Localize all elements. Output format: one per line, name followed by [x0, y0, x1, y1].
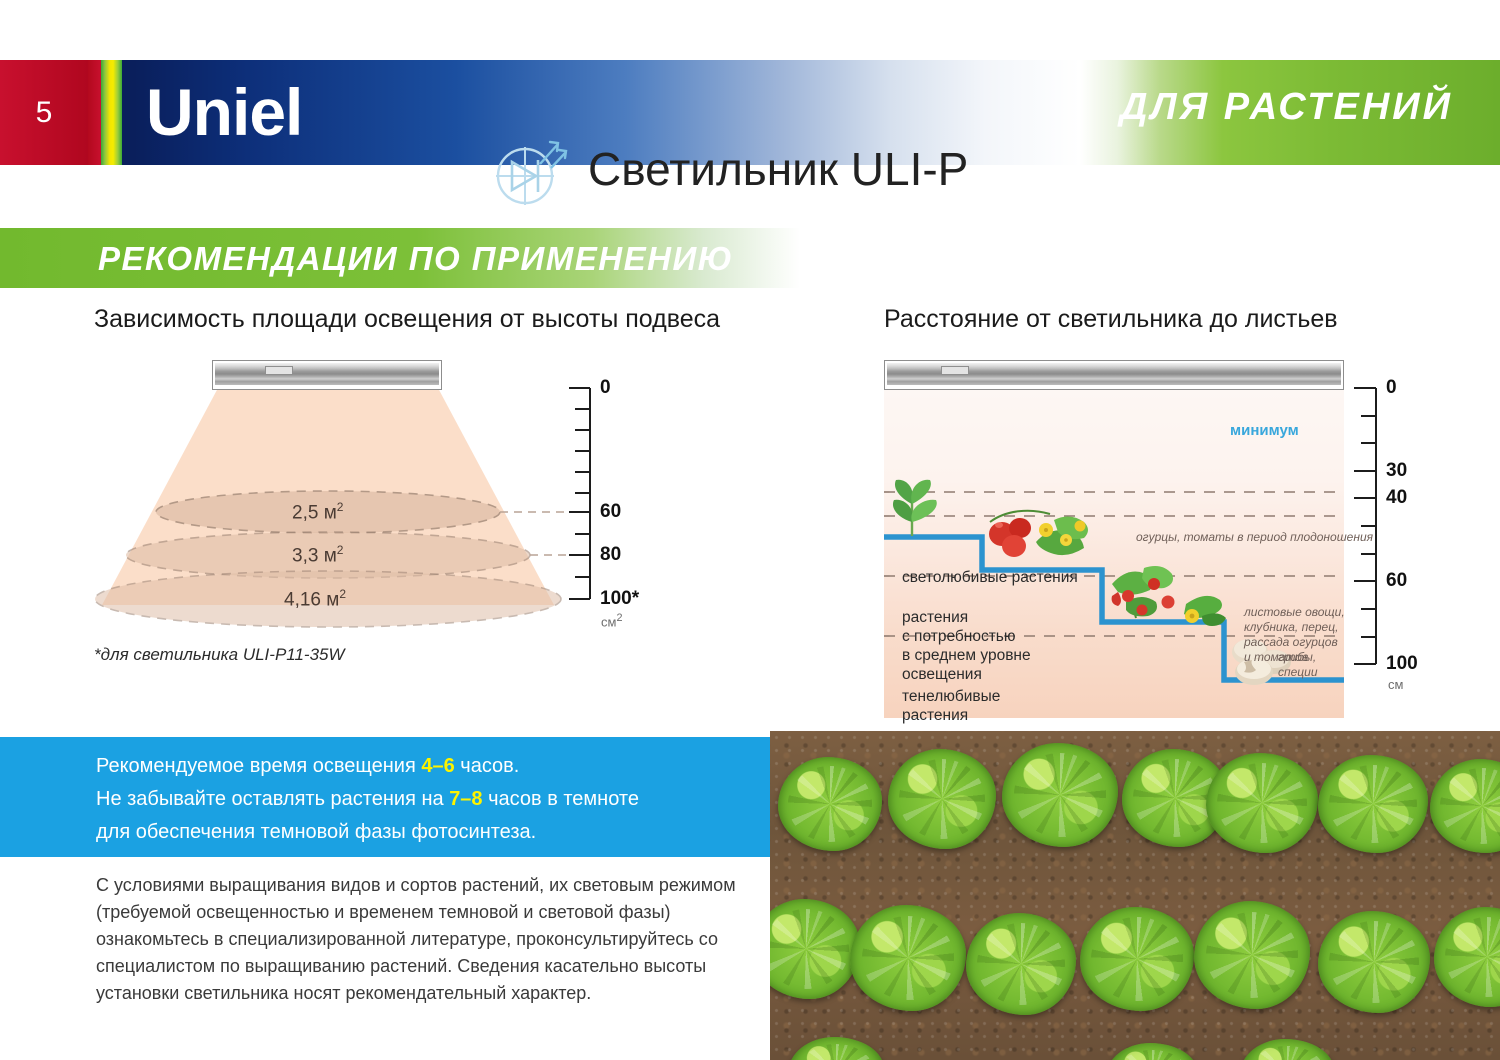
- tomato-flower-cluster-icon: [989, 511, 1088, 557]
- lettuce-plant: [1002, 743, 1118, 847]
- left-ruler-unit-text: см: [601, 614, 616, 629]
- minimum-label: минимум: [1230, 422, 1299, 439]
- page-title: Светильник ULI-P: [588, 142, 968, 196]
- area-label-80: 3,3 м2: [292, 543, 343, 567]
- lettuce-field-photo: [770, 731, 1500, 1060]
- page-header: 5 Uniel Светильник ULI-P ДЛЯ РАСТЕНИЙ: [0, 60, 1500, 165]
- strawberry-cucumber-cluster-icon: [1112, 566, 1226, 626]
- left-panel-heading: Зависимость площади освещения от высоты …: [94, 305, 720, 334]
- page-number-block: 5: [0, 60, 88, 165]
- lettuce-plant: [850, 905, 966, 1011]
- illumination-area-diagram: 2,5 м2 3,3 м2 4,16 м2 0 60 80 100* см2: [94, 360, 664, 660]
- lettuce-plant: [888, 749, 996, 849]
- lamp-fixture: [212, 360, 442, 390]
- left-ruler-label-100: 100*: [600, 588, 639, 610]
- section-title-bar: РЕКОМЕНДАЦИИ ПО ПРИМЕНЕНИЮ: [0, 228, 800, 288]
- callout-hours-7-8: 7–8: [449, 788, 482, 810]
- for-plants-badge-label: ДЛЯ РАСТЕНИЙ: [1120, 86, 1453, 129]
- lettuce-plant: [1318, 911, 1430, 1013]
- left-ruler-unit: см2: [601, 612, 622, 629]
- light-cone-svg: [94, 360, 664, 660]
- lettuce-plant: [778, 757, 882, 851]
- note-cucumbers-tomatoes: огурцы, томаты в период плодоношения: [1136, 530, 1373, 545]
- right-ruler-label-100: 100: [1386, 653, 1418, 675]
- callout-line-3: для обеспечения темновой фазы фотосинтез…: [96, 821, 536, 844]
- callout-line-1-a: Рекомендуемое время освещения: [96, 755, 421, 777]
- leaf-distance-diagram: минимум светолюбивые растения растения с…: [884, 360, 1440, 720]
- category-label-shade-loving: тенелюбивые растения: [902, 687, 1000, 725]
- lettuce-plant: [1080, 907, 1194, 1011]
- brand-logo-text: Uniel: [146, 74, 302, 150]
- callout-hours-4-6: 4–6: [421, 755, 454, 777]
- page-number: 5: [0, 60, 88, 165]
- stripe-green-yellow: [101, 60, 122, 165]
- for-plants-badge: ДЛЯ РАСТЕНИЙ: [1080, 60, 1500, 165]
- lettuce-plant: [966, 913, 1076, 1015]
- disclaimer-paragraph: С условиями выращивания видов и сортов р…: [96, 872, 756, 1007]
- area-label-100: 4,16 м2: [284, 587, 346, 611]
- area-label-80-text: 3,3 м: [292, 545, 337, 566]
- left-ruler-label-0: 0: [600, 377, 611, 399]
- left-ruler-unit-sup: 2: [616, 612, 622, 624]
- right-ruler-label-30: 30: [1386, 460, 1407, 482]
- area-label-100-text: 4,16 м: [284, 589, 339, 610]
- stripe-red: [88, 60, 101, 165]
- led-diode-icon: [492, 138, 572, 208]
- left-panel-footnote: *для светильника ULI-P11-35W: [94, 645, 345, 665]
- area-label-60: 2,5 м2: [292, 500, 343, 524]
- category-label-light-loving: светолюбивые растения: [902, 568, 1078, 587]
- lamp-fixture-right: [884, 360, 1344, 390]
- area-label-100-sup: 2: [339, 587, 346, 601]
- section-title: РЕКОМЕНДАЦИИ ПО ПРИМЕНЕНИЮ: [98, 240, 734, 278]
- lettuce-plant: [1194, 901, 1310, 1009]
- sprout-plant-icon: [893, 480, 937, 536]
- area-label-60-text: 2,5 м: [292, 502, 337, 523]
- callout-line-2: Не забывайте оставлять растения на 7–8 ч…: [96, 788, 639, 811]
- category-label-medium-light: растения с потребностью в среднем уровне…: [902, 608, 1031, 684]
- callout-line-2-a: Не забывайте оставлять растения на: [96, 788, 449, 810]
- left-ruler-label-60: 60: [600, 501, 621, 523]
- lettuce-plant: [1206, 753, 1318, 853]
- callout-line-1-b: часов.: [455, 755, 520, 777]
- lamp-body: [215, 363, 439, 385]
- note-mushrooms-spices: грибы, специи: [1278, 650, 1318, 680]
- lamp-switch-icon-right: [941, 366, 969, 375]
- right-ruler-label-60: 60: [1386, 570, 1407, 592]
- right-ruler-label-40: 40: [1386, 487, 1407, 509]
- right-ruler-label-0: 0: [1386, 377, 1397, 399]
- left-ruler-label-80: 80: [600, 544, 621, 566]
- area-label-60-sup: 2: [337, 500, 344, 514]
- right-panel-heading: Расстояние от светильника до листьев: [884, 305, 1338, 334]
- lettuce-plant: [1318, 755, 1428, 853]
- stripe-navy: [122, 60, 134, 165]
- lighting-time-callout: Рекомендуемое время освещения 4–6 часов.…: [0, 737, 770, 857]
- callout-line-2-b: часов в темноте: [483, 788, 639, 810]
- callout-line-1: Рекомендуемое время освещения 4–6 часов.: [96, 755, 519, 778]
- area-label-80-sup: 2: [337, 543, 344, 557]
- lamp-switch-icon: [265, 366, 293, 375]
- brand-color-stripes: [88, 60, 134, 165]
- right-ruler-unit: см: [1388, 677, 1403, 692]
